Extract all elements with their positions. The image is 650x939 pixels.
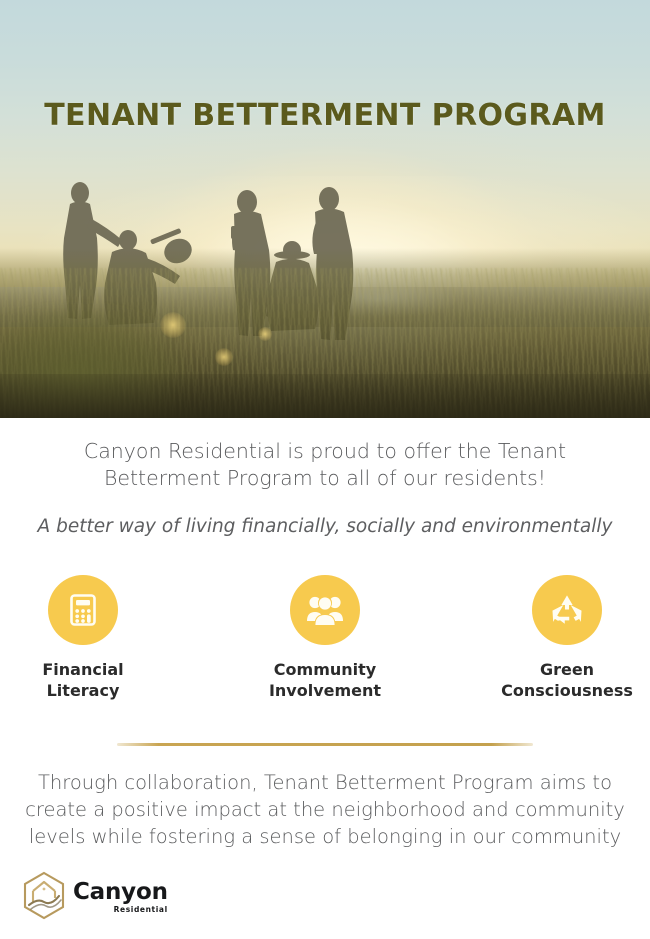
tagline-text: A better way of living financially, soci… (20, 515, 630, 539)
feature-label: Financial Literacy (8, 659, 158, 702)
hero-banner: TENANT BETTERMENT PROGRAM (0, 0, 650, 418)
feature-icon-badge (290, 575, 360, 645)
lens-flare-icon (160, 312, 186, 338)
brand-tagline: Residential (73, 906, 168, 914)
feature-list: Financial Literacy Community Involvement (0, 575, 650, 702)
footer-logo: Canyon Residential (22, 871, 168, 923)
main-content: Canyon Residential is proud to offer the… (0, 418, 650, 851)
feature-icon-badge (48, 575, 118, 645)
page-title: TENANT BETTERMENT PROGRAM (0, 98, 650, 133)
lens-flare-icon (215, 348, 233, 366)
feature-item-community-involvement: Community Involvement (250, 575, 400, 702)
feature-item-green-consciousness: Green Consciousness (492, 575, 642, 702)
feature-label: Community Involvement (250, 659, 400, 702)
calculator-icon (65, 592, 101, 628)
people-group-icon (306, 593, 344, 627)
canyon-hexagon-logo-icon (22, 871, 66, 923)
intro-paragraph: Canyon Residential is proud to offer the… (25, 438, 625, 493)
feature-icon-badge (532, 575, 602, 645)
feature-label: Green Consciousness (492, 659, 642, 702)
lens-flare-icon (258, 327, 272, 341)
section-divider (117, 743, 533, 746)
brand-name: Canyon (73, 881, 168, 904)
hero-bottom-shadow (0, 374, 650, 418)
recycle-icon (549, 592, 585, 628)
feature-item-financial-literacy: Financial Literacy (8, 575, 158, 702)
closing-paragraph: Through collaboration, Tenant Betterment… (15, 770, 635, 851)
